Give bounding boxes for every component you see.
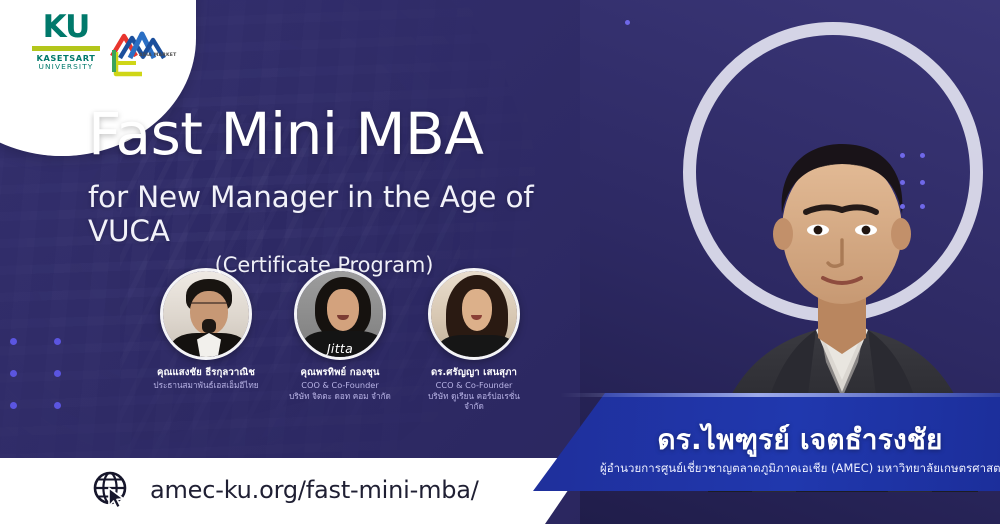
globe-cursor-icon <box>92 470 132 510</box>
page-title: Fast Mini MBA <box>88 104 608 165</box>
title-block: Fast Mini MBA for New Manager in the Age… <box>88 104 608 277</box>
ku-accent-bar <box>32 46 100 51</box>
kasetsart-university-logo: KU KASETSART UNIVERSITY <box>30 8 102 72</box>
speaker-org: บริษัท ดูเรียน คอร์ปอเรชั่น จำกัด <box>418 391 530 412</box>
avatar: Jitta <box>294 268 386 360</box>
avatar <box>428 268 520 360</box>
speaker-name: ดร.ศรัญญา เสนสุภา <box>418 367 530 379</box>
dot-grid-right <box>900 153 930 213</box>
page-subtitle: for New Manager in the Age of VUCA <box>88 181 608 249</box>
speaker-org: บริษัท จิตตะ ดอท คอม จำกัด <box>284 391 396 402</box>
promo-poster: KU KASETSART UNIVERSITY ASIA MARKET <box>0 0 1000 524</box>
dot-grid-top-right <box>625 20 635 30</box>
speaker-card: คุณแสงชัย ธีรกุลวาณิช ประธานสมาพันธ์เอสเ… <box>150 268 262 391</box>
presenter-role: ผู้อำนวยการศูนย์เชี่ยวชาญตลาดภูมิภาคเอเช… <box>600 461 1000 476</box>
presenter-banner-content: ดร.ไพฑูรย์ เจตธำรงชัย ผู้อำนวยการศูนย์เช… <box>600 423 1000 476</box>
logo-group: KU KASETSART UNIVERSITY ASIA MARKET <box>30 8 180 86</box>
amec-wordmark: ASIA MARKET <box>139 53 176 58</box>
speaker-role: COO & Co-Founder <box>284 380 396 391</box>
speaker-card: Jitta คุณพรทิพย์ กองชุน COO & Co-Founder… <box>284 268 396 401</box>
website-url[interactable]: amec-ku.org/fast-mini-mba/ <box>150 476 479 504</box>
speaker-role: ประธานสมาพันธ์เอสเอ็มอีไทย <box>150 380 262 391</box>
speaker-portrait-icon <box>431 271 517 357</box>
avatar <box>160 268 252 360</box>
presenter-name: ดร.ไพฑูรย์ เจตธำรงชัย <box>600 423 1000 456</box>
website-row[interactable]: amec-ku.org/fast-mini-mba/ <box>92 470 479 510</box>
speaker-name: คุณพรทิพย์ กองชุน <box>284 367 396 379</box>
banner-highlight <box>560 393 1000 397</box>
ku-name-line2: UNIVERSITY <box>30 63 102 72</box>
speaker-portrait-icon: Jitta <box>297 271 383 357</box>
speaker-card: ดร.ศรัญญา เสนสุภา CCO & Co-Founder บริษั… <box>418 268 530 412</box>
speaker-portrait-icon <box>163 271 249 357</box>
ku-monogram: KU <box>30 12 102 43</box>
speaker-role: CCO & Co-Founder <box>418 380 530 391</box>
dot-grid-left <box>10 338 70 418</box>
speaker-list: คุณแสงชัย ธีรกุลวาณิช ประธานสมาพันธ์เอสเ… <box>150 268 570 403</box>
speaker-name: คุณแสงชัย ธีรกุลวาณิช <box>150 367 262 379</box>
amec-logo: ASIA MARKET <box>108 22 172 84</box>
shirt-brand-label: Jitta <box>297 341 383 356</box>
